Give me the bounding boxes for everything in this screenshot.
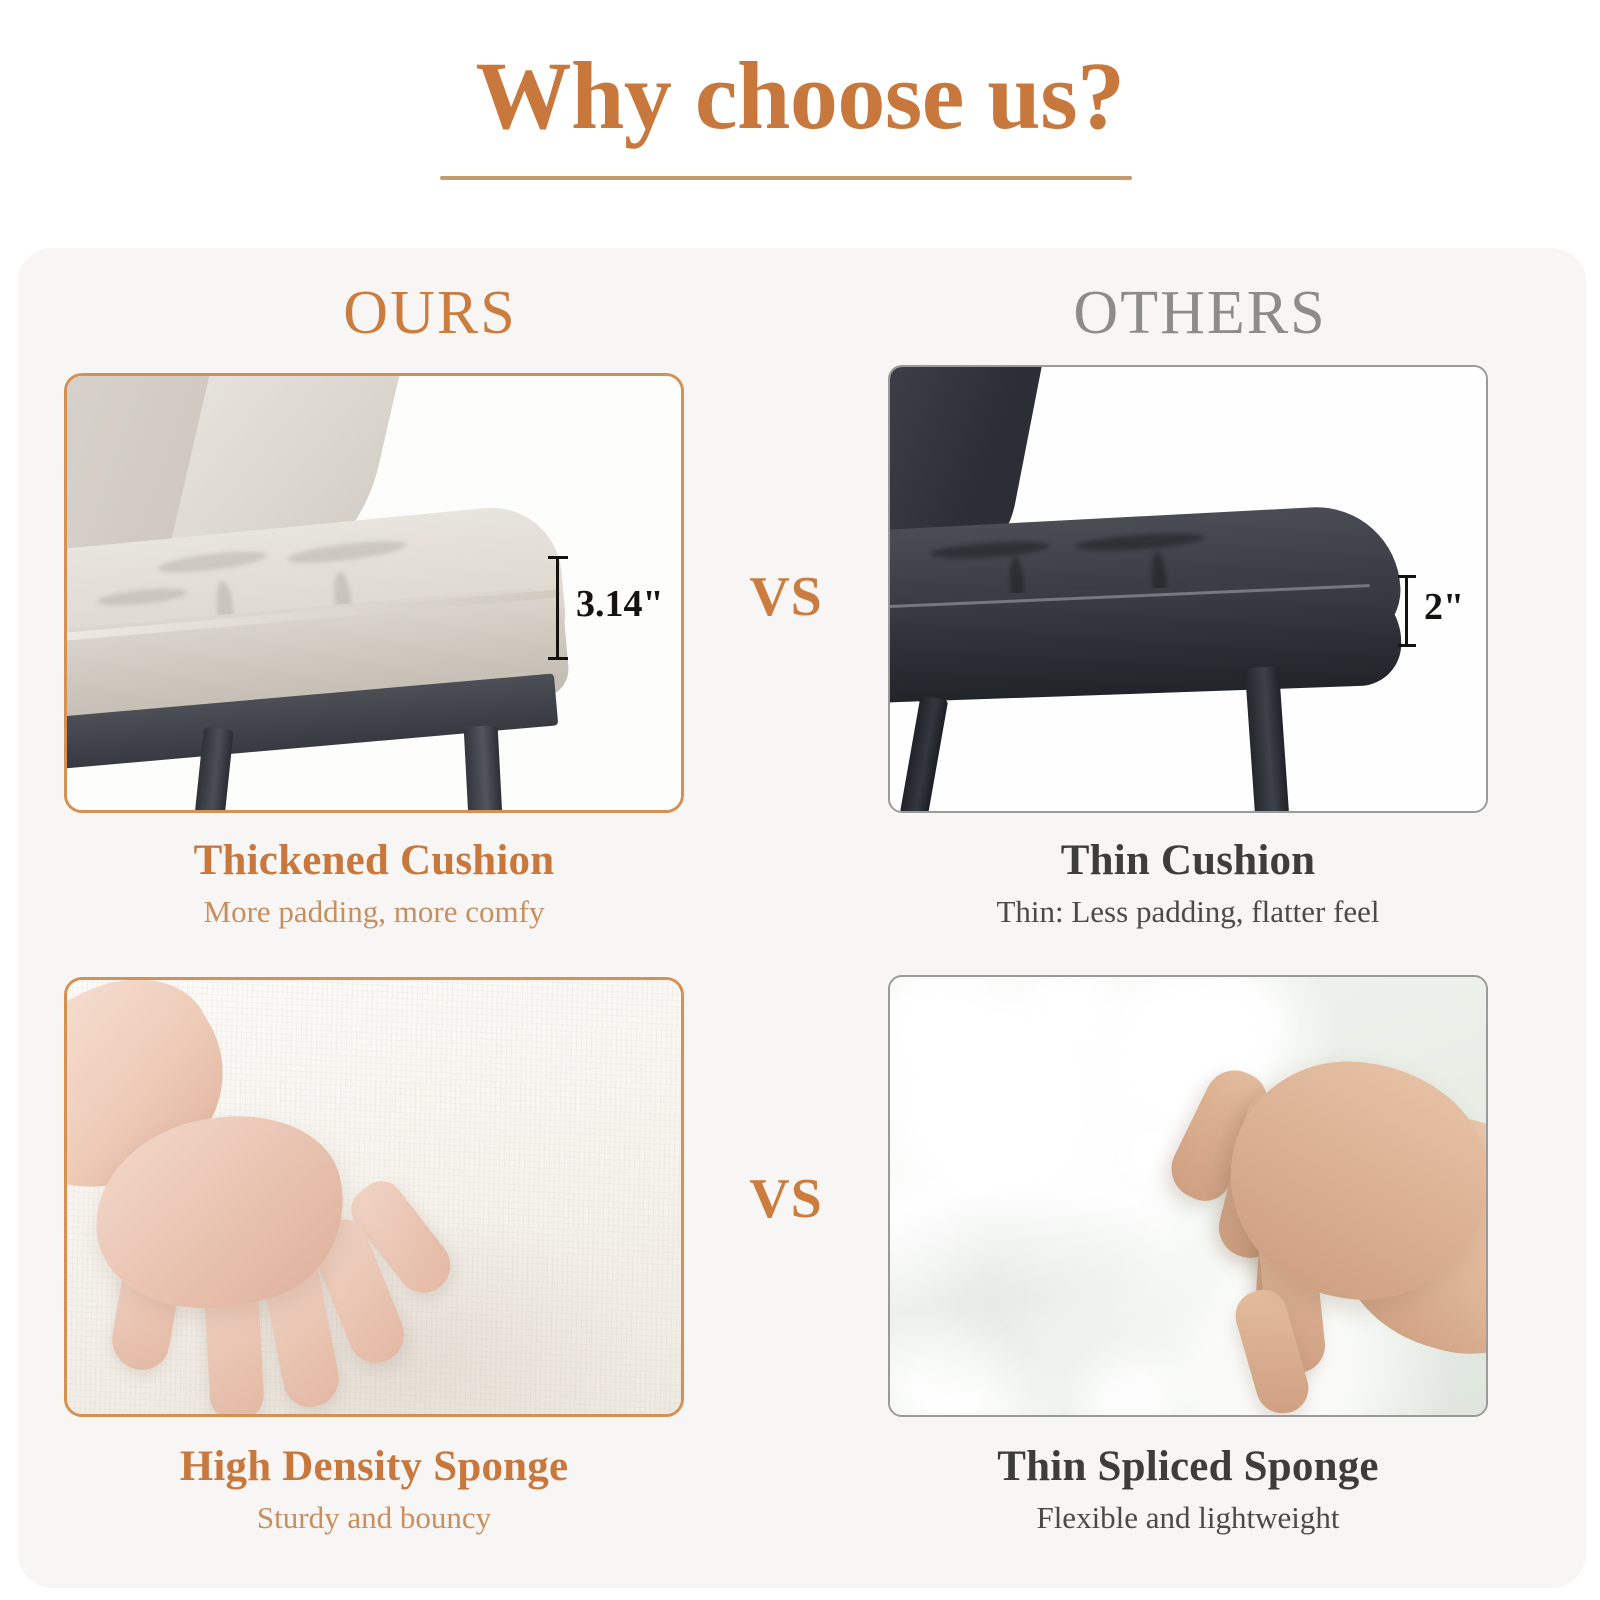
hand-on-foam-illustration (67, 980, 681, 1414)
caption-title: Thin Cushion (868, 836, 1508, 885)
page-title-container: Why choose us? (0, 46, 1600, 147)
dimension-label: 3.14" (576, 582, 664, 626)
chair-seat-front-face (888, 580, 1403, 704)
vs-badge-row2: VS (686, 1167, 886, 1231)
hand (1076, 975, 1488, 1417)
hand (64, 990, 527, 1417)
dimension-cap-bottom (1398, 644, 1416, 647)
column-header-others: OTHERS (930, 278, 1470, 349)
caption-others-row1: Thin Cushion Thin: Less padding, flatter… (868, 836, 1508, 931)
caption-title: Thickened Cushion (54, 836, 694, 885)
caption-subtitle: Sturdy and bouncy (54, 1499, 694, 1536)
chair-leg (464, 725, 505, 813)
dimension-line (1405, 575, 1408, 647)
infographic-root: Why choose us? OURS OTHERS 3.14" (0, 0, 1600, 1600)
caption-ours-row2: High Density Sponge Sturdy and bouncy (54, 1442, 694, 1537)
caption-title: Thin Spliced Sponge (868, 1442, 1508, 1491)
dimension-cap-bottom (548, 657, 568, 660)
others-sponge-photo (888, 975, 1488, 1417)
title-underline-divider (440, 176, 1132, 180)
ours-sponge-photo (64, 977, 684, 1417)
page-title: Why choose us? (0, 46, 1600, 147)
caption-ours-row1: Thickened Cushion More padding, more com… (54, 836, 694, 931)
caption-others-row2: Thin Spliced Sponge Flexible and lightwe… (868, 1442, 1508, 1537)
column-header-ours: OURS (180, 278, 680, 349)
caption-subtitle: Thin: Less padding, flatter feel (868, 893, 1508, 930)
vs-badge-row1: VS (686, 565, 886, 629)
dimension-label: 2" (1424, 585, 1464, 629)
dimension-line (556, 556, 559, 660)
others-cushion-photo (888, 365, 1488, 813)
caption-subtitle: More padding, more comfy (54, 893, 694, 930)
caption-title: High Density Sponge (54, 1442, 694, 1491)
dark-chair-illustration (890, 367, 1486, 811)
hand-on-fiberfill-illustration (890, 977, 1486, 1415)
caption-subtitle: Flexible and lightweight (868, 1499, 1508, 1536)
